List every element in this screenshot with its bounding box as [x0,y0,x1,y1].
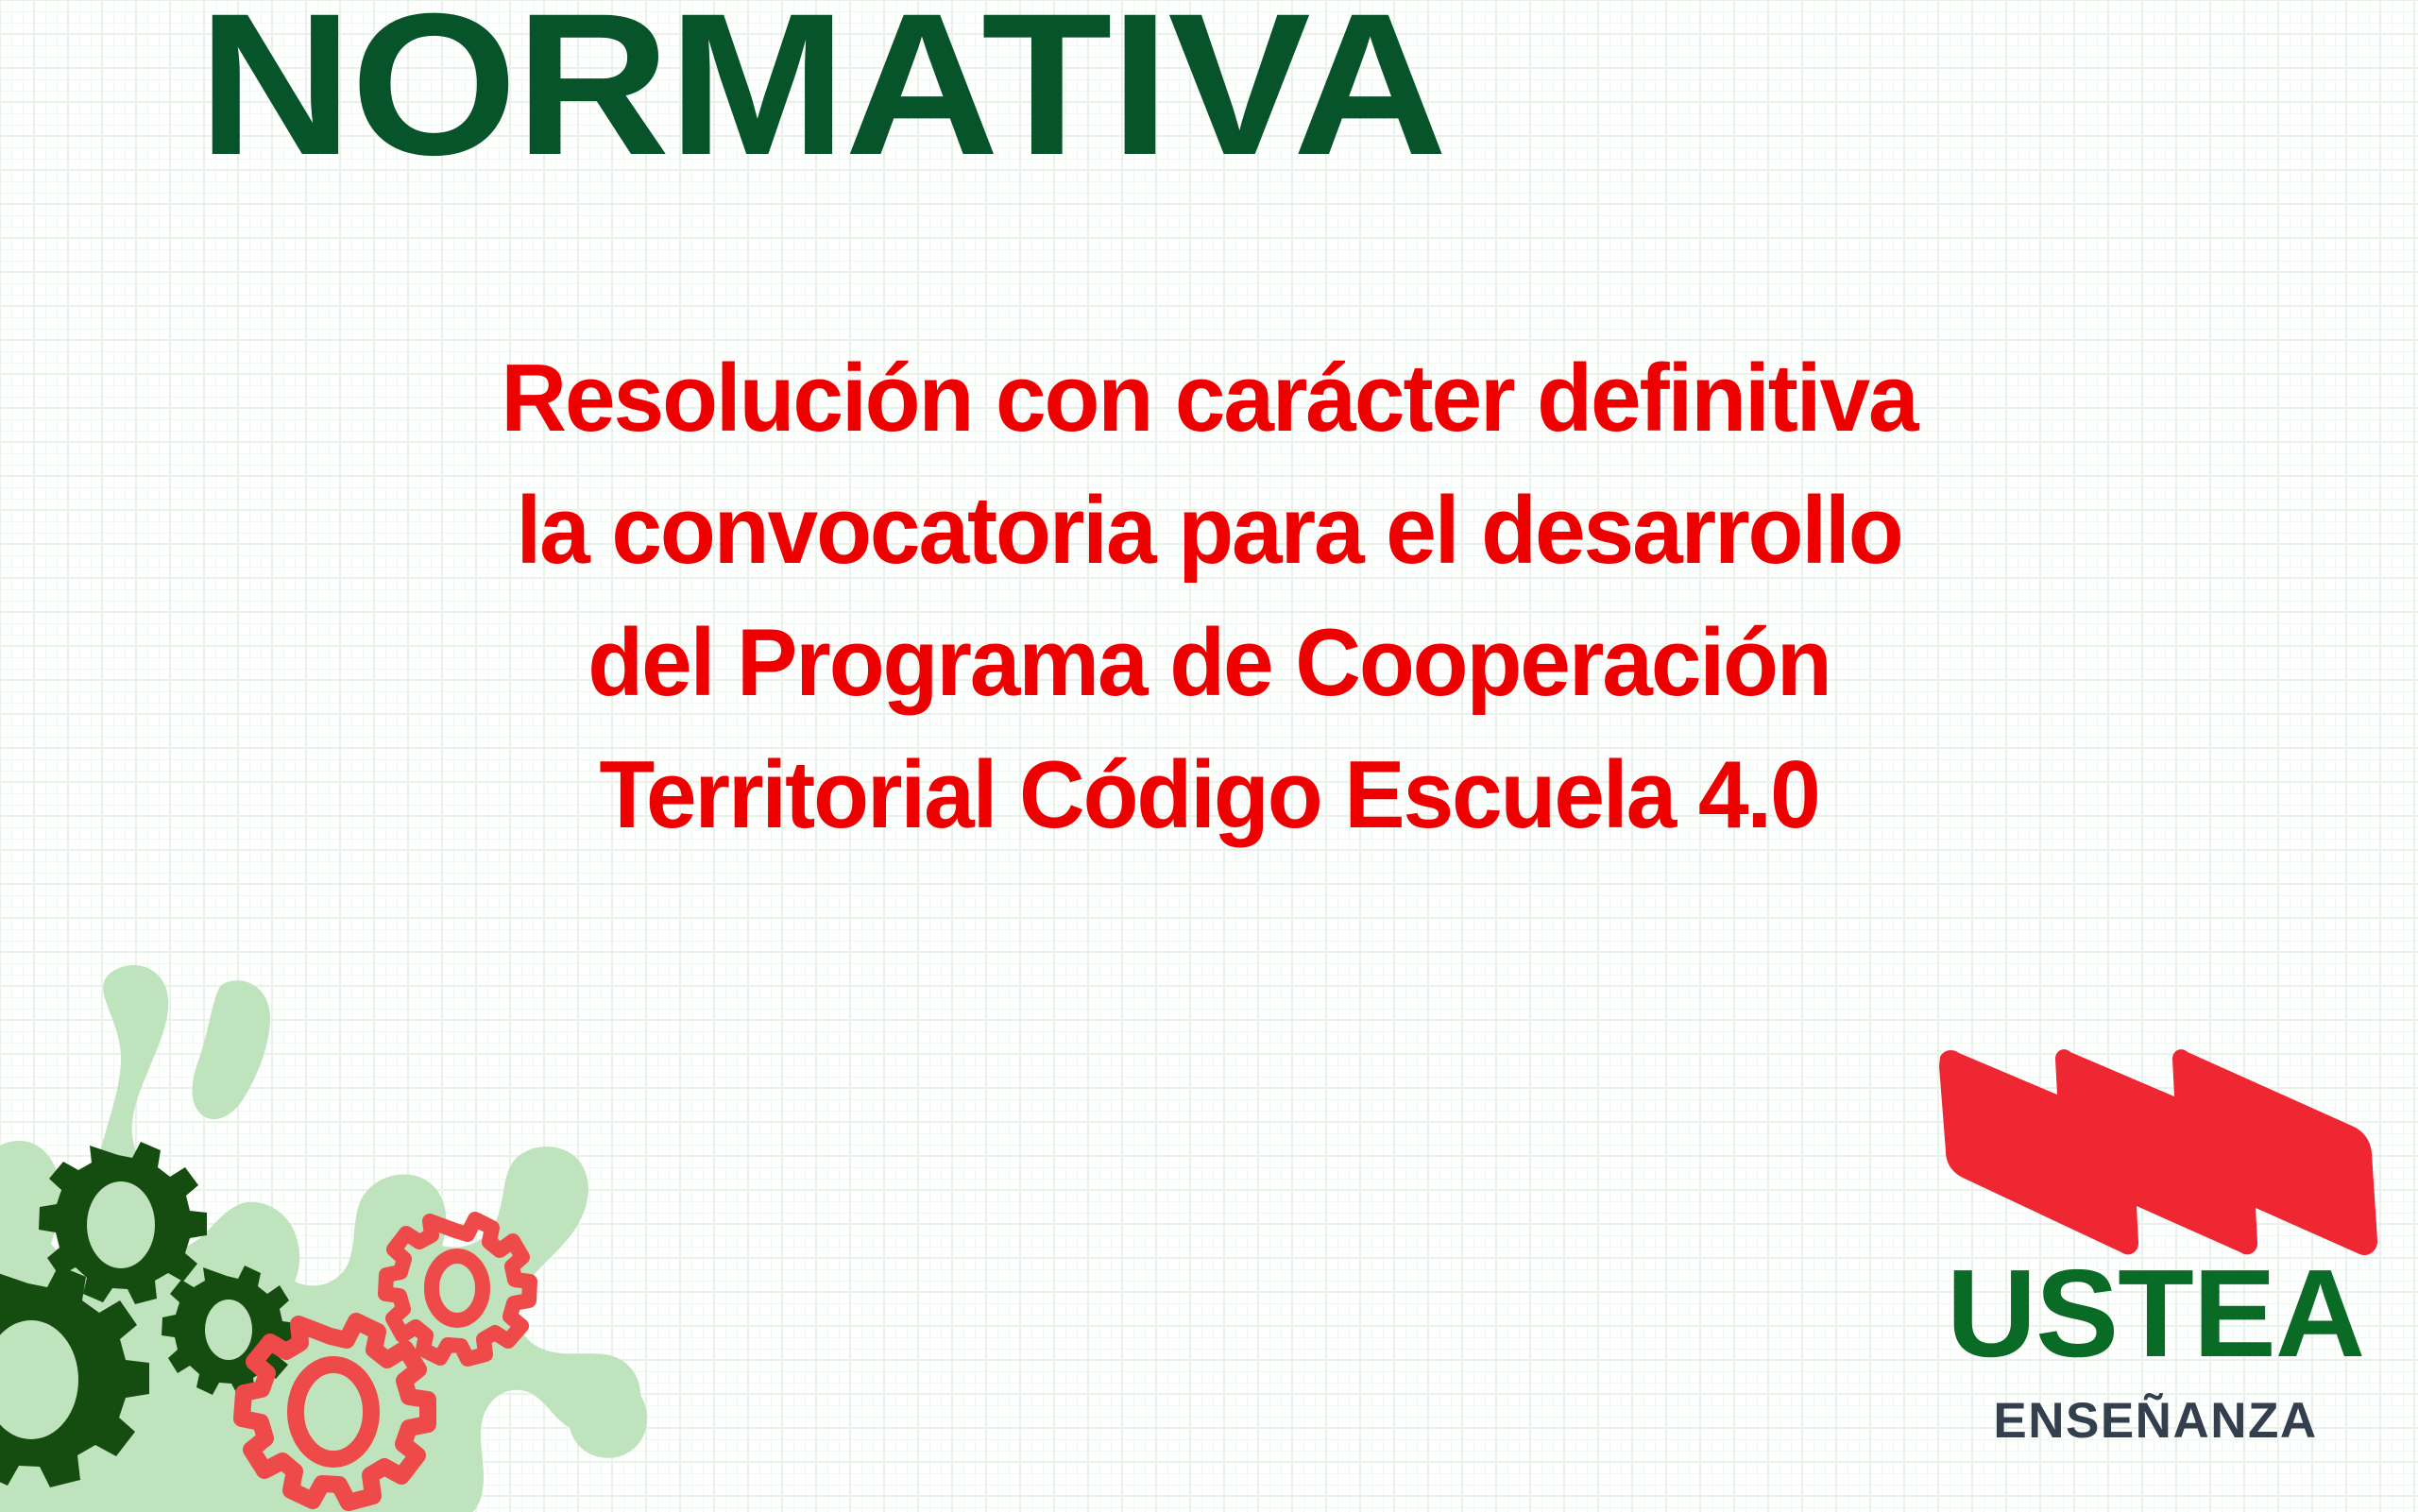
subtitle-line-1: Resolución con carácter definitiva [55,332,2364,465]
page-title: NORMATIVA [0,0,1693,192]
logo-wordmark: USTEA [1919,1251,2392,1376]
logo-subtext: ENSEÑANZA [1919,1395,2392,1448]
subtitle-block: Resolución con carácter definitiva la co… [0,332,2418,861]
subtitle-line-2: la convocatoria para el desarrollo [55,465,2364,597]
paint-splatter-decoration [0,940,758,1512]
ustea-logo: USTEA ENSEÑANZA [1919,1045,2392,1489]
subtitle-line-3: del Programa de Cooperación [55,597,2364,729]
lightning-flag-icon [1927,1045,2380,1263]
poster-canvas: NORMATIVA Resolución con carácter defini… [0,0,2418,1512]
subtitle-line-4: Territorial Código Escuela 4.0 [55,729,2364,861]
